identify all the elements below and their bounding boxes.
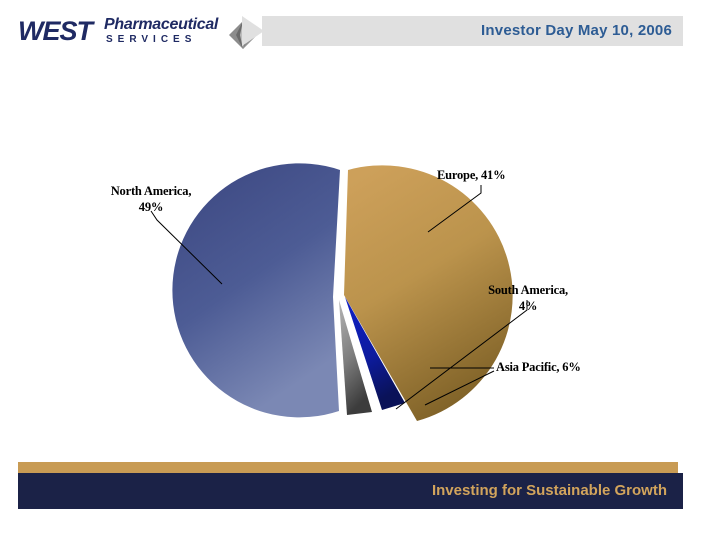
logo-services-text: SERVICES: [106, 34, 196, 45]
pie-label-south-america-line2: 4%: [519, 299, 537, 313]
header-chevron-icon: [242, 16, 264, 46]
pie-label-south-america-line1: South America,: [488, 283, 568, 297]
slide-footer: Investing for Sustainable Growth: [18, 462, 683, 509]
logo-west-text: WEST: [18, 16, 92, 47]
pie-label-asia-pacific: Asia Pacific, 6%: [496, 360, 581, 375]
pie-label-north-america-line2: 49%: [139, 200, 163, 214]
pie-chart-svg: [0, 60, 720, 450]
footer-tagline: Investing for Sustainable Growth: [18, 473, 667, 509]
west-pharmaceutical-logo: WEST Pharmaceutical SERVICES: [18, 12, 258, 50]
pie-label-north-america-line1: North America,: [111, 184, 192, 198]
pie-chart: North America, 49% Europe, 41% South Ame…: [0, 60, 720, 450]
footer-gold-bar: [18, 462, 678, 473]
header-title: Investor Day May 10, 2006: [262, 16, 672, 46]
pie-label-north-america: North America, 49%: [97, 183, 205, 215]
pie-label-europe: Europe, 41%: [437, 168, 505, 183]
slide-header: WEST Pharmaceutical SERVICES Investor Da…: [0, 0, 720, 60]
pie-label-south-america: South America, 4%: [479, 282, 577, 314]
logo-pharmaceutical-text: Pharmaceutical: [104, 16, 218, 34]
